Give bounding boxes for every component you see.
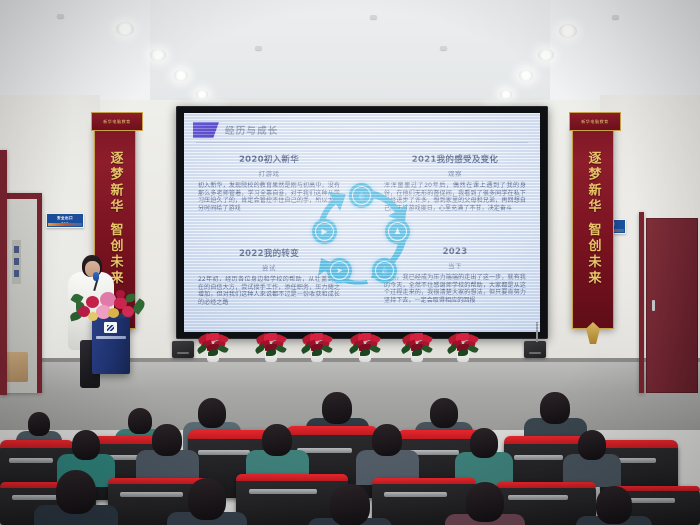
audience-person-mid-6-head (578, 430, 606, 460)
banner-left-header: 新华电脑教育 (91, 112, 143, 131)
flower-leaf-13 (126, 294, 136, 303)
door-handle-right[interactable] (652, 300, 655, 311)
plant-leaf (254, 344, 266, 354)
stage-plant-2 (254, 332, 288, 362)
cycle-node-person: ♟ (385, 219, 410, 244)
downlight-2 (150, 49, 166, 61)
seat-headrest (0, 440, 74, 448)
banner-right-header: 新华电脑教育 (569, 112, 621, 131)
audience-person-far-3-head (198, 398, 226, 428)
audience-person-far-4-head (322, 392, 352, 424)
plant-leaf (300, 344, 312, 354)
stage-plant-3 (300, 332, 334, 362)
slide-title: 经历与成长 (225, 123, 279, 137)
banner-left-header-text: 新华电脑教育 (103, 119, 131, 125)
audience-person-mid-1-head (72, 430, 100, 460)
plant-leaf (412, 350, 422, 356)
ceiling-sensor-4 (255, 46, 262, 50)
stage-plant-5 (400, 332, 434, 362)
microphone-icon[interactable] (93, 272, 99, 281)
plant-leaf (275, 344, 287, 354)
slide-title-rule (196, 142, 528, 143)
plant-leaf (360, 350, 370, 356)
plant-leaf (467, 344, 479, 354)
slide-accent-shape (193, 122, 219, 138)
flower-bloom-4 (86, 296, 99, 308)
play-icon: ▶ (315, 222, 334, 241)
sign-color-strip-left (48, 223, 82, 226)
ceiling-sensor-1 (57, 14, 64, 18)
paper-plane-icon: ➤ (330, 261, 349, 280)
slide-section-1-subheading: 观察 (384, 168, 526, 178)
flower-arrangement (70, 288, 142, 326)
audience-person-near-3-head (330, 484, 370, 525)
audience-person-far-1-head (28, 412, 50, 436)
cycle-diagram: 💧 ♟ 💧 ➤ ▶ (310, 185, 414, 289)
seat-headrest (504, 436, 586, 444)
plant-leaf (369, 344, 381, 354)
plant-leaf (312, 350, 322, 356)
plant-leaf (266, 350, 276, 356)
audience-person-near-5-head (596, 486, 632, 524)
ceiling-sensor-3 (612, 15, 619, 19)
seat-armrest (198, 450, 250, 455)
water-drop-icon: 💧 (375, 261, 394, 280)
cycle-node-drop: 💧 (372, 258, 397, 283)
flower-bloom-10 (108, 308, 119, 318)
seat-headrest (236, 474, 348, 481)
banner-right: 新华电脑教育 逐梦新华 智创未来 (572, 124, 614, 329)
plant-leaf (321, 344, 333, 354)
plant-leaf (196, 344, 208, 354)
seat-headrest (286, 426, 378, 435)
seat-armrest (249, 489, 316, 494)
plant-leaf (400, 344, 412, 354)
door-frame-right (639, 212, 644, 393)
speaker-cable (536, 322, 538, 342)
downlight-7 (538, 49, 554, 61)
cycle-node-flame: 💧 (349, 183, 374, 208)
seat-headrest (372, 478, 476, 484)
plant-leaf (348, 344, 360, 354)
person-icon: ♟ (388, 222, 407, 241)
stage-plant-4 (348, 332, 382, 362)
plant-leaf (208, 350, 218, 356)
slide-section-1-heading: 2021我的感受及变化 (384, 153, 526, 165)
seat-headrest (496, 482, 596, 488)
flower-bloom-8 (122, 306, 134, 317)
seat-armrest (508, 495, 568, 500)
seat-armrest (120, 492, 182, 497)
exit-sign-left: 安全出口 EXIT (46, 213, 84, 228)
flower-bloom-11 (88, 312, 98, 321)
downlight-4 (196, 90, 208, 99)
audience-person-far-5-head (430, 398, 458, 428)
plant-leaf (421, 344, 433, 354)
flame-icon: 💧 (352, 186, 371, 205)
downlight-6 (559, 24, 577, 38)
downlight-8 (519, 70, 533, 81)
banner-right-header-text: 新华电脑教育 (581, 119, 609, 125)
seat-armrest (9, 458, 53, 463)
cycle-node-play: ▶ (312, 219, 337, 244)
audience-person-mid-4-head (372, 424, 402, 456)
audience-person-far-2-head (128, 408, 152, 434)
auditorium-photo: 安全出口 EXIT 安全出口 EXIT 新华电脑教育 逐梦新华 智创未来 新华电… (0, 0, 700, 525)
chair-left-background (6, 352, 28, 382)
stage-plant-6 (446, 332, 480, 362)
audience-person-mid-3-head (262, 424, 292, 456)
audience-person-near-4-head (466, 482, 504, 522)
audience-person-far-6-head (540, 392, 570, 424)
stage-speaker-left (172, 341, 194, 358)
flower-bloom-12 (116, 290, 125, 298)
plant-leaf (446, 344, 458, 354)
seat-armrest (384, 492, 446, 497)
cycle-node-send: ➤ (327, 258, 352, 283)
ceiling-sensor-2 (370, 15, 377, 19)
banner-left-text: 逐梦新华 智创未来 (108, 151, 123, 287)
ceiling-sensor-5 (440, 46, 447, 50)
seat-headrest (600, 440, 678, 448)
podium-name-plate (96, 336, 126, 339)
switch-plate-3[interactable] (14, 270, 19, 277)
plant-leaf (458, 350, 468, 356)
led-screen[interactable]: 经历与成长 2020初入新华 打游戏 初入新华，发现院校的教育果然是刚与初高中，… (184, 113, 540, 332)
downlight-9 (500, 90, 512, 99)
stage-speaker-right (524, 341, 546, 358)
presentation-slide: 经历与成长 2020初入新华 打游戏 初入新华，发现院校的教育果然是刚与初高中，… (184, 113, 540, 332)
wall-corner-trim-left (0, 150, 7, 395)
audience-person-near-2-head (188, 478, 226, 520)
slide-section-0-subheading: 打游戏 (198, 168, 340, 178)
switch-plate-1[interactable] (14, 246, 19, 253)
audience-person-mid-5-head (470, 428, 498, 458)
stage-plant-1 (196, 332, 230, 362)
banner-right-text: 逐梦新华 智创未来 (586, 151, 601, 287)
plant-leaf (217, 344, 229, 354)
switch-plate-2[interactable] (14, 258, 19, 265)
audience-person-near-1-head (56, 470, 96, 514)
audience-person-mid-2-head (152, 424, 182, 456)
slide-section-0-heading: 2020初入新华 (198, 153, 340, 165)
seat-armrest (514, 455, 563, 460)
downlight-3 (174, 70, 188, 81)
downlight-1 (116, 22, 134, 36)
